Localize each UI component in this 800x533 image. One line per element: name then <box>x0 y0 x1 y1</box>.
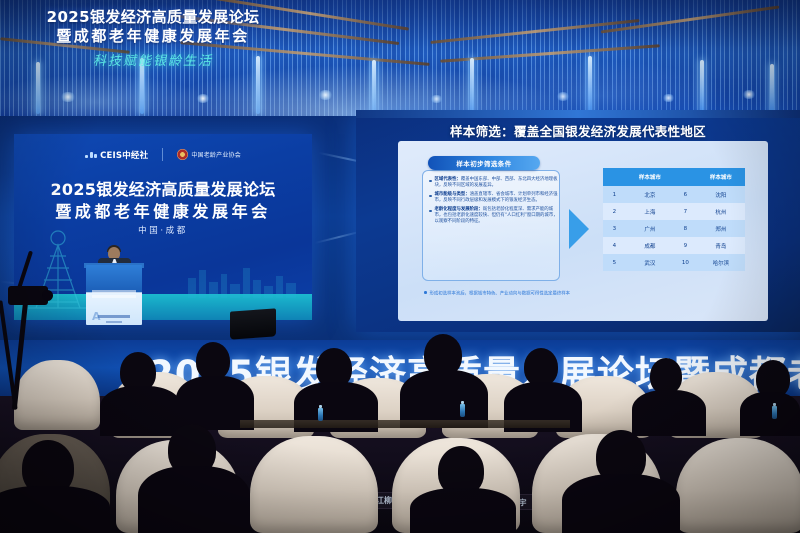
ceis-bars-icon <box>85 152 97 158</box>
audience-shoulders <box>138 466 250 533</box>
row-city-right: 青岛 <box>697 237 745 254</box>
row-city-right: 哈尔滨 <box>697 254 745 271</box>
water-bottle <box>318 408 323 421</box>
audience-head <box>650 358 682 394</box>
table-row: 3广州8郑州 <box>603 220 745 237</box>
left-screen-title-line2: 暨成都老年健康发展年会 <box>14 198 312 222</box>
criteria-bullet-1: 区域代表性：覆盖中国东部、中部、西部、东北四大经济地理板块，反映不同区域的发展差… <box>429 177 559 188</box>
podium-with-speaker: A <box>86 245 142 325</box>
table-header-row: 样本城市 样本城市 <box>603 168 745 186</box>
venue-banner-line2: 暨成都老年健康发展年会 <box>18 27 288 46</box>
row-city-left: 北京 <box>626 186 674 203</box>
bullet-dot-icon <box>429 195 432 198</box>
bullet-dot-icon <box>429 210 432 213</box>
criteria-bullet-3: 老龄化程度与发展阶段：既包括老龄化程度深、需求产能的城市，也包括老龄化速度较快、… <box>429 207 559 224</box>
audience-table-edge <box>240 420 570 428</box>
criteria-box: 区域代表性：覆盖中国东部、中部、西部、东北四大经济地理板块，反映不同区域的发展差… <box>422 170 560 281</box>
venue-banner: 2025银发经济高质量发展论坛 暨成都老年健康发展年会 科技赋能银龄生活 <box>18 8 288 69</box>
row-num-right: 10 <box>674 254 697 271</box>
association-logo: 中国老龄产业协会 <box>177 149 241 160</box>
criteria-heading-pill: 样本初步筛选条件 <box>428 156 540 170</box>
row-num-left: 2 <box>603 203 626 220</box>
row-num-right: 8 <box>674 220 697 237</box>
audience-shoulders <box>740 392 800 436</box>
audience-head <box>196 342 230 380</box>
skyline-graphic-icon <box>186 264 306 298</box>
row-num-right: 7 <box>674 203 697 220</box>
right-projection-screen: 样本筛选：覆盖全国银发经济发展代表性地区 区域代表性：覆盖中国东部、中部、西部、… <box>356 110 800 332</box>
table-row: 2上海7杭州 <box>603 203 745 220</box>
left-screen-logos: CEIS中经社 中国老龄产业协会 <box>14 148 312 161</box>
table-row: 4成都9青岛 <box>603 237 745 254</box>
row-num-right: 6 <box>674 186 697 203</box>
chair <box>250 436 378 533</box>
water-bottle <box>772 406 777 419</box>
table-header-2 <box>674 168 697 186</box>
stage-photo: 2025银发经济高质量发展论坛 暨成都老年健康发展年会 科技赋能银龄生活 <box>0 0 800 533</box>
sample-cities-table: 样本城市 样本城市 1北京6沈阳 2上海7杭州 3广州8郑州 4成都9青岛 5武… <box>603 168 745 271</box>
chair <box>676 438 800 533</box>
audience-shoulders <box>562 474 680 533</box>
footnote-text: 形成初选样本池后，根据城市特色、产业动向与数据可得性选定最终样本 <box>430 292 571 297</box>
table-header-0 <box>603 168 626 186</box>
seal-emblem-icon <box>177 149 188 160</box>
slide-content-card: 区域代表性：覆盖中国东部、中部、西部、东北四大经济地理板块，反映不同区域的发展差… <box>398 141 768 321</box>
chair <box>14 360 100 430</box>
camera-lens-icon <box>42 290 53 301</box>
ceis-logo: CEIS中经社 <box>85 149 148 161</box>
row-num-left: 4 <box>603 237 626 254</box>
row-city-left: 成都 <box>626 237 674 254</box>
bullet-dot-icon <box>429 180 432 183</box>
criteria-bullet-2: 城市能级与类型：涵盖直辖市、省会城市、计划单列市和经济强市，反映不同行政层级和发… <box>429 192 559 203</box>
row-num-left: 3 <box>603 220 626 237</box>
table-row: 1北京6沈阳 <box>603 186 745 203</box>
row-num-right: 9 <box>674 237 697 254</box>
row-city-left: 武汉 <box>626 254 674 271</box>
venue-banner-line1: 2025银发经济高质量发展论坛 <box>18 8 288 27</box>
row-num-left: 1 <box>603 186 626 203</box>
row-city-left: 上海 <box>626 203 674 220</box>
stage-monitor-speaker <box>230 308 276 339</box>
row-num-left: 5 <box>603 254 626 271</box>
row-city-right: 沈阳 <box>697 186 745 203</box>
venue-banner-subtitle: 科技赋能银龄生活 <box>18 50 288 69</box>
ceis-logo-label: CEIS中经社 <box>100 149 148 161</box>
slide-footnote: 形成初选样本池后，根据城市特色、产业动向与数据可得性选定最终样本 <box>424 291 574 298</box>
row-city-left: 广州 <box>626 220 674 237</box>
audience-shoulders <box>0 486 110 533</box>
audience-shoulders <box>410 488 516 533</box>
table-header-3: 样本城市 <box>697 168 745 186</box>
criteria-term-2: 城市能级与类型： <box>435 192 470 197</box>
criteria-bullet-list: 区域代表性：覆盖中国东部、中部、西部、东北四大经济地理板块，反映不同区域的发展差… <box>427 177 559 228</box>
slide-title: 样本筛选：覆盖全国银发经济发展代表性地区 <box>356 121 800 140</box>
audience-head <box>524 348 558 386</box>
criteria-term-1: 区域代表性： <box>435 177 461 182</box>
podium-art-letter: A <box>92 310 101 323</box>
table-header-1: 样本城市 <box>626 168 674 186</box>
audience-shoulders <box>100 386 182 436</box>
podium-body: A <box>86 265 142 325</box>
row-city-right: 杭州 <box>697 203 745 220</box>
row-city-right: 郑州 <box>697 220 745 237</box>
water-bottle <box>460 404 465 417</box>
criteria-heading-label: 样本初步筛选条件 <box>456 158 511 168</box>
left-projection-screen: CEIS中经社 中国老龄产业协会 2025银发经济高质量发展论坛 暨成都老年健康… <box>14 134 312 320</box>
criteria-term-3: 老龄化程度与发展阶段： <box>435 207 483 212</box>
association-logo-label: 中国老龄产业协会 <box>191 150 241 159</box>
logo-divider <box>162 148 163 161</box>
left-screen-location: 中国·成都 <box>14 224 312 236</box>
footnote-dot-icon <box>424 291 427 294</box>
flow-arrow-icon <box>569 209 589 249</box>
audience-shoulders <box>632 390 706 436</box>
table-row: 5武汉10哈尔滨 <box>603 254 745 271</box>
left-screen-title-line1: 2025银发经济高质量发展论坛 <box>14 176 312 200</box>
